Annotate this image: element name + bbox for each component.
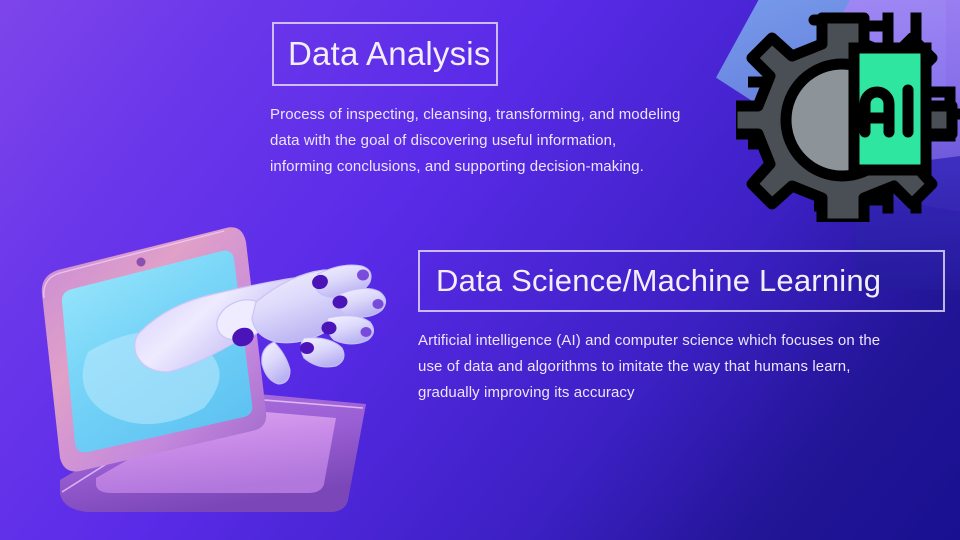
ai-gear-chip-icon	[736, 4, 960, 222]
paragraph-line: use of data and algorithms to imitate th…	[418, 354, 958, 380]
heading-data-analysis: Data Analysis	[288, 35, 491, 73]
laptop-robot-hand-illustration	[18, 212, 414, 524]
paragraph-line: gradually improving its accuracy	[418, 380, 958, 406]
paragraph-line: data with the goal of discovering useful…	[270, 128, 760, 154]
paragraph-line: informing conclusions, and supporting de…	[270, 154, 760, 180]
paragraph-line: Process of inspecting, cleansing, transf…	[270, 102, 760, 128]
heading-box-data-analysis: Data Analysis	[272, 22, 498, 86]
paragraph-data-analysis: Process of inspecting, cleansing, transf…	[270, 102, 760, 180]
heading-data-science: Data Science/Machine Learning	[436, 263, 881, 299]
heading-box-data-science: Data Science/Machine Learning	[418, 250, 945, 312]
paragraph-line: Artificial intelligence (AI) and compute…	[418, 328, 958, 354]
slide-canvas: Data Analysis Process of inspecting, cle…	[0, 0, 960, 540]
paragraph-data-science: Artificial intelligence (AI) and compute…	[418, 328, 958, 406]
